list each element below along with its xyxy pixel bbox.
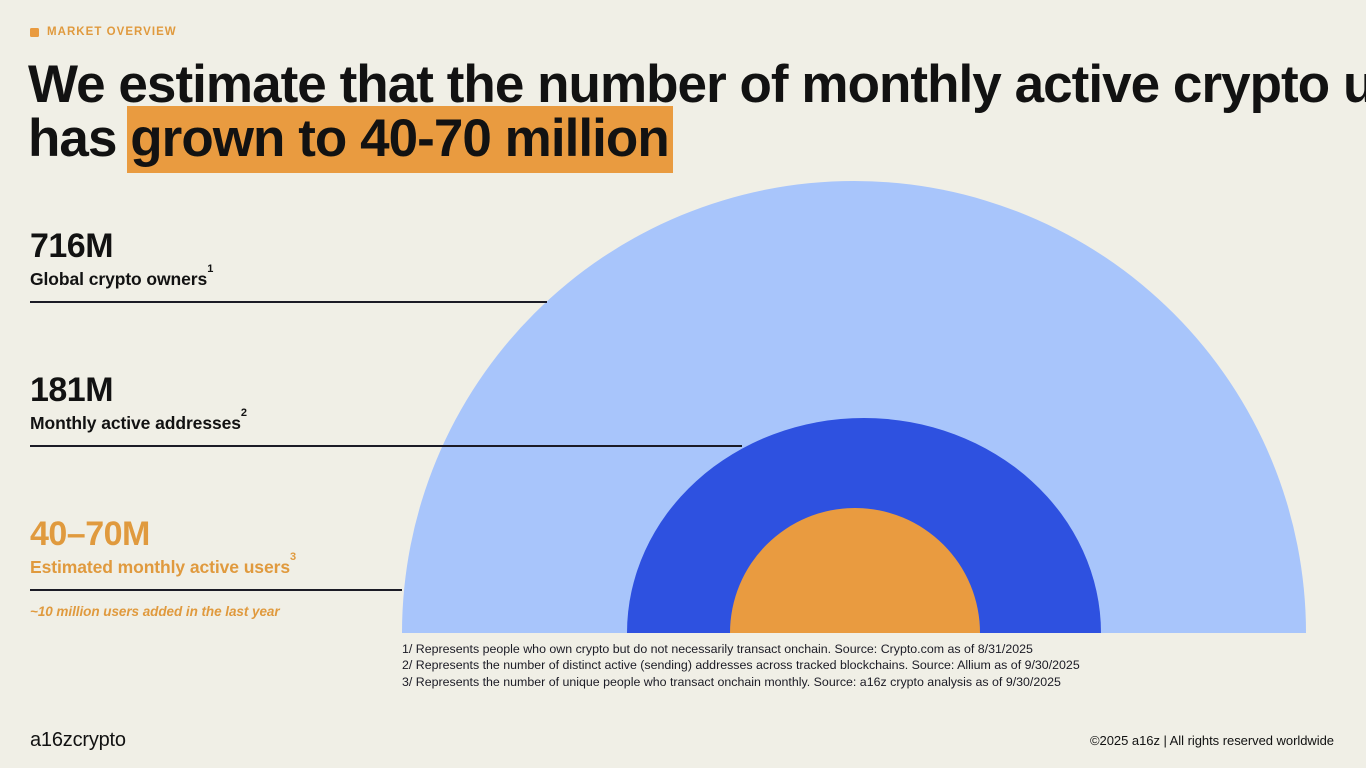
stat-footnote-marker: 2	[241, 407, 247, 419]
stat-value: 181M	[30, 372, 742, 408]
stat-block-global-crypto-owners: 716M Global crypto owners1	[30, 228, 547, 303]
stat-label-text: Monthly active addresses	[30, 413, 241, 433]
eyebrow-label: MARKET OVERVIEW	[47, 27, 177, 39]
stat-footnote-marker: 1	[207, 263, 213, 275]
title-line-2: has grown to 40-70 million	[28, 112, 1208, 166]
stat-value: 716M	[30, 228, 547, 264]
stat-label: Monthly active addresses2	[30, 413, 742, 433]
copyright-notice: ©2025 a16z | All rights reserved worldwi…	[1090, 733, 1334, 748]
title-line-1: We estimate that the number of monthly a…	[28, 58, 1208, 112]
stat-divider	[30, 445, 742, 447]
stat-divider	[30, 589, 402, 591]
stat-block-estimated-monthly-active-users: 40–70M Estimated monthly active users3 ~…	[30, 516, 402, 619]
stat-label-text: Estimated monthly active users	[30, 557, 290, 577]
orange-square-bullet-icon	[30, 28, 39, 37]
footnote-1: 1/ Represents people who own crypto but …	[402, 641, 1232, 657]
a16zcrypto-logo: a16zcrypto	[30, 729, 126, 752]
page-title: We estimate that the number of monthly a…	[28, 58, 1208, 165]
stat-label-text: Global crypto owners	[30, 269, 207, 289]
stat-footnote-marker: 3	[290, 551, 296, 563]
stat-block-monthly-active-addresses: 181M Monthly active addresses2	[30, 372, 742, 447]
stat-value: 40–70M	[30, 516, 402, 552]
stat-label: Estimated monthly active users3	[30, 557, 402, 577]
footnote-2: 2/ Represents the number of distinct act…	[402, 657, 1232, 673]
footnotes: 1/ Represents people who own crypto but …	[402, 641, 1232, 690]
chart-segment-estimated-monthly-active-users	[730, 508, 980, 758]
chart-segment-monthly-active-addresses	[627, 418, 1101, 768]
stat-label: Global crypto owners1	[30, 269, 547, 289]
eyebrow-market-overview: MARKET OVERVIEW	[30, 27, 177, 39]
stat-divider	[30, 301, 547, 303]
footnote-3: 3/ Represents the number of unique peopl…	[402, 674, 1232, 690]
stat-subnote: ~10 million users added in the last year	[30, 604, 402, 619]
title-highlight: grown to 40-70 million	[127, 106, 673, 173]
title-line-2-prefix: has	[28, 109, 130, 168]
